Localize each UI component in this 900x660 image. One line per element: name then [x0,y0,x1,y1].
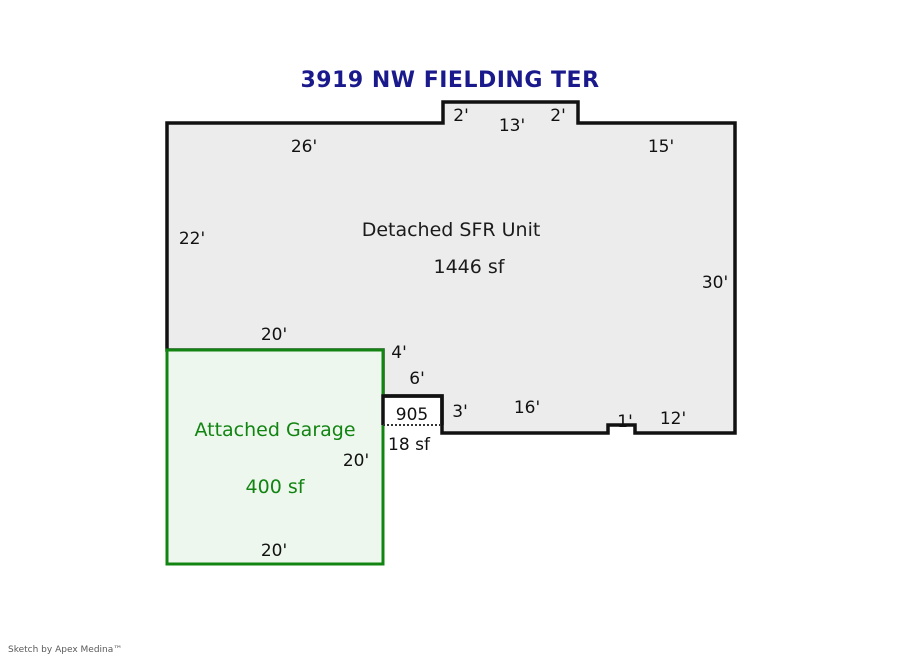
dim-notch-3: 3' [452,402,468,422]
dim-top-bump-mid: 13' [499,116,525,136]
dim-left-upper: 22' [179,229,205,249]
dim-top-bump-right: 2' [550,106,566,126]
dim-bottom-16: 16' [514,398,540,418]
dim-garage-bottom: 20' [261,541,287,561]
area-label-attached-garage-name: Attached Garage [194,419,355,441]
dim-right: 30' [702,273,728,293]
dim-garage-right: 20' [343,451,369,471]
area-label-detached-sfr-unit-name: Detached SFR Unit [362,219,541,241]
dim-bottom-12: 12' [660,409,686,429]
sketch-page: 3919 NW FIELDING TER Detached SFR Unit 1… [0,0,900,660]
room-code-905: 905 [396,405,428,425]
room-area-905: 18 sf [388,435,430,455]
dim-top-bump-left: 2' [453,106,469,126]
dim-notch-6: 6' [409,369,425,389]
watermark-text: Sketch by Apex Medina™ [8,645,122,655]
dim-top-left: 26' [291,137,317,157]
dim-bottom-1: 1' [617,412,633,432]
area-label-attached-garage-area: 400 sf [246,476,305,498]
dim-left-lower: 20' [261,325,287,345]
floor-plan-drawing [0,0,900,660]
dim-top-right: 15' [648,137,674,157]
dim-notch-4: 4' [391,343,407,363]
area-label-detached-sfr-unit-area: 1446 sf [434,256,505,278]
